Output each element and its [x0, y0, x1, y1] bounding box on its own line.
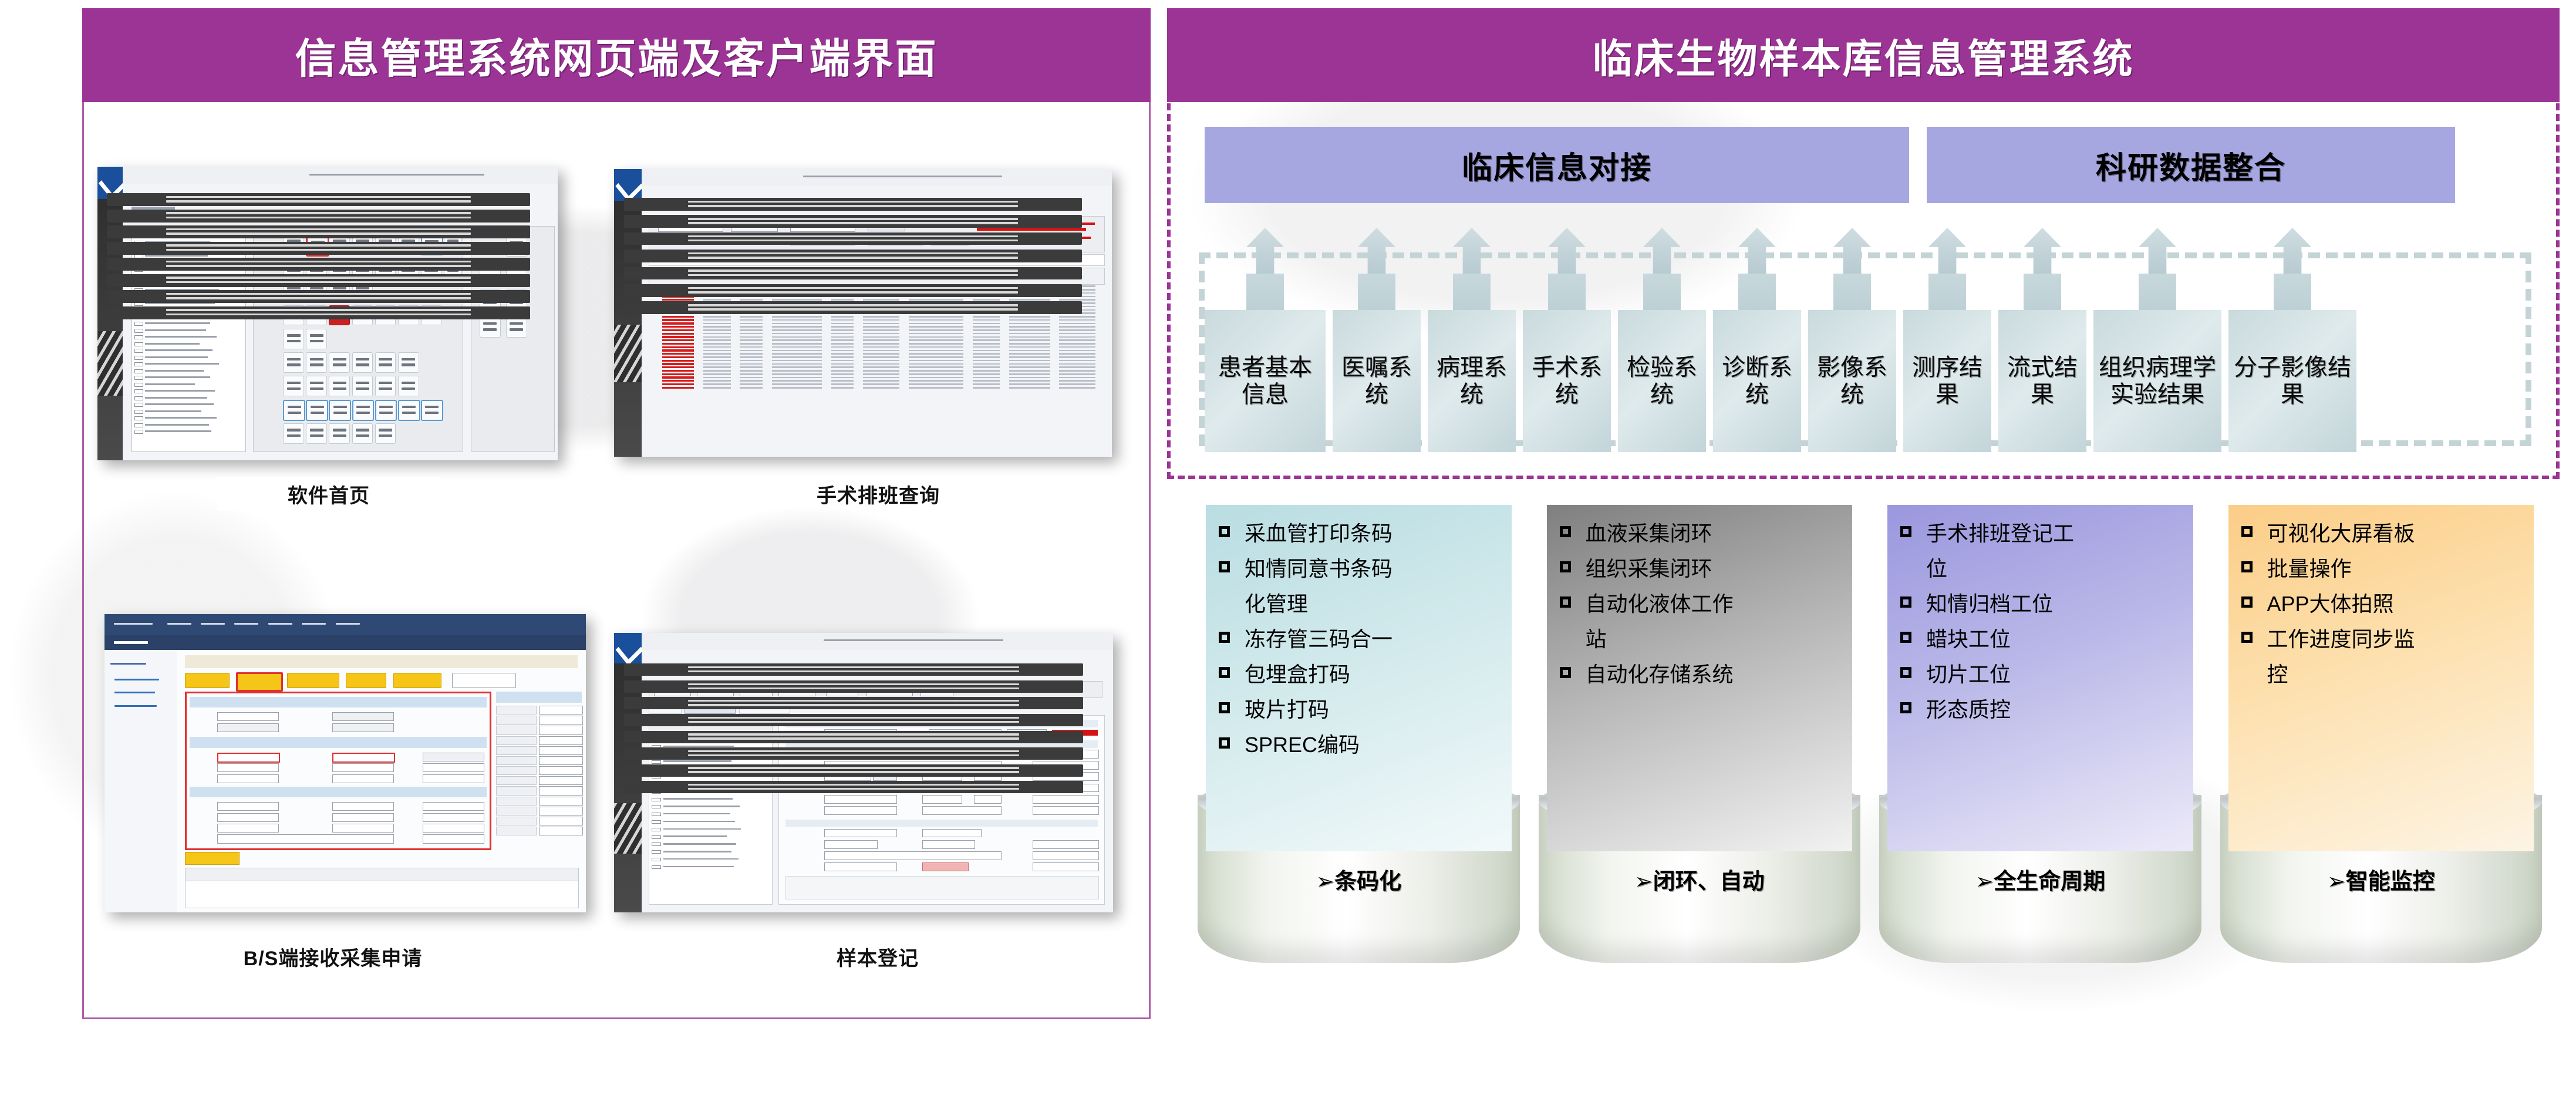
list-item-continuation: 化管理 — [1216, 588, 1501, 620]
research-data-integration-box[interactable]: 科研数据整合 — [1927, 127, 2455, 203]
custom-label — [496, 726, 537, 734]
custom-label — [496, 807, 537, 815]
custom-label — [496, 746, 537, 755]
consent-select[interactable] — [922, 829, 982, 838]
data-source-label: 流式结果 — [1998, 310, 2086, 452]
list-item: 切片工位 — [1898, 659, 2183, 690]
sidebar-stripes — [614, 803, 642, 854]
sidebar-nav-button[interactable] — [107, 290, 530, 303]
table-row[interactable] — [649, 342, 1105, 345]
up-arrow-icon — [1643, 228, 1681, 274]
custom-label — [496, 756, 537, 765]
sidebar-nav-button[interactable] — [107, 242, 530, 255]
clinical-info-docking-box[interactable]: 临床信息对接 — [1205, 127, 1909, 203]
capability-cylinder: 采血管打印条码 知情同意书条码 化管理 冻存管三码合一 包埋盒打码 玻片打码 S… — [1198, 505, 1520, 963]
left-panel-title: 信息管理系统网页端及客户端界面 — [295, 26, 938, 85]
freeze-time-input[interactable] — [1033, 840, 1099, 849]
sample-owner-input[interactable] — [332, 824, 394, 833]
ethnicity-select[interactable] — [824, 795, 897, 804]
data-source-cell[interactable]: 检验系统 — [1618, 228, 1706, 452]
data-source-cell[interactable]: 手术系统 — [1523, 228, 1611, 452]
capability-card-monitoring: 可视化大屏看板 批量操作 APP大体拍照 工作进度同步监 控 — [2228, 505, 2534, 851]
custom-label — [496, 797, 537, 806]
offbody-time-input[interactable] — [922, 840, 976, 849]
sidebar-nav-button[interactable] — [624, 215, 1082, 228]
capability-card-closedloop: 血液采集闭环 组织采集闭环 自动化液体工作 站 自动化存储系统 — [1547, 505, 1853, 851]
caption-bs-collection-request: B/S端接收采集申请 — [189, 938, 477, 975]
screenshot-titlebar — [642, 633, 1113, 651]
arrow-stem — [1548, 274, 1586, 310]
result-table-header — [185, 868, 579, 882]
table-row[interactable] — [649, 373, 1105, 375]
list-item: 可视化大屏看板 — [2239, 518, 2524, 550]
list-item-continuation: 控 — [2239, 659, 2524, 690]
query-today-button[interactable] — [185, 852, 240, 865]
table-row[interactable] — [649, 386, 1105, 389]
table-row[interactable] — [649, 315, 1105, 318]
list-item: 血液采集闭环 — [1557, 518, 1842, 550]
data-source-cell[interactable]: 组织病理学实验结果 — [2093, 228, 2221, 452]
left-panel-header: 信息管理系统网页端及客户端界面 — [82, 8, 1151, 102]
list-item: 蜡块工位 — [1898, 624, 2183, 655]
custom-input[interactable] — [539, 807, 583, 815]
screenshot-bs-collection-request — [104, 614, 586, 912]
sidebar-nav-button[interactable] — [107, 274, 530, 287]
data-sources-row: 患者基本信息 医嘱系统 病理系统 手术系统 检验系统 诊断系统 影像系统 测序结… — [1205, 228, 2526, 452]
disease-type-select[interactable] — [217, 774, 279, 783]
arrow-stem — [1453, 274, 1491, 310]
sample-detail-grid — [785, 876, 1099, 899]
custom-input[interactable] — [539, 716, 583, 724]
sidebar-nav-button[interactable] — [624, 284, 1082, 297]
sidebar-nav-button[interactable] — [624, 250, 1082, 262]
arrow-stem — [2024, 274, 2061, 310]
custom-label — [496, 716, 537, 724]
sidebar-nav-button[interactable] — [624, 714, 1083, 726]
form-panel — [177, 650, 586, 912]
screenshot-titlebar — [123, 167, 558, 185]
custom-input[interactable] — [539, 706, 583, 715]
menu-item[interactable] — [167, 623, 191, 625]
table-row[interactable] — [649, 329, 1105, 331]
custom-input[interactable] — [539, 726, 583, 734]
outpatient-no-input[interactable] — [332, 753, 395, 763]
data-source-cell[interactable]: 医嘱系统 — [1333, 228, 1421, 452]
case-select[interactable] — [332, 774, 394, 783]
arrow-stem — [1833, 274, 1871, 310]
list-item: 自动化存储系统 — [1557, 659, 1842, 690]
data-source-cell[interactable]: 测序结果 — [1903, 228, 1991, 452]
storekeeper-input[interactable] — [1033, 862, 1099, 871]
sidebar-nav-button[interactable] — [624, 781, 1083, 793]
table-row[interactable] — [649, 319, 1105, 321]
custom-input[interactable] — [539, 817, 583, 825]
section-header-sample — [190, 787, 486, 797]
sidebar-nav-button[interactable] — [624, 301, 1082, 314]
custom-input[interactable] — [539, 797, 583, 806]
nav-link[interactable] — [114, 679, 159, 680]
cylinder-label: ➢闭环、自动 — [1539, 863, 1861, 895]
up-arrow-icon — [1548, 228, 1586, 274]
titlebar-text — [309, 174, 484, 176]
sample-status-select[interactable] — [824, 862, 897, 871]
sidebar-nav-button[interactable] — [624, 267, 1082, 280]
custom-fields-header — [496, 692, 582, 702]
capability-cylinder: 手术排班登记工 位 知情归档工位 蜡块工位 切片工位 形态质控 ➢全生命周期 — [1879, 505, 2201, 963]
list-item-continuation: 站 — [1557, 624, 1842, 655]
table-row[interactable] — [649, 369, 1105, 372]
marriage-select[interactable] — [974, 795, 1001, 804]
collect-time-input[interactable] — [217, 813, 279, 822]
list-item: 采血管打印条码 — [1216, 518, 1501, 550]
list-item: SPREC编码 — [1216, 729, 1501, 761]
caption-software-home: 软件首页 — [217, 477, 440, 511]
data-source-label: 影像系统 — [1808, 310, 1896, 452]
menu-item[interactable] — [302, 623, 326, 625]
sidebar-nav-button[interactable] — [624, 731, 1083, 743]
data-source-label: 病理系统 — [1428, 310, 1516, 452]
up-arrow-icon — [2024, 228, 2061, 274]
project-name-select[interactable] — [217, 712, 279, 721]
data-source-cell[interactable]: 流式结果 — [1998, 228, 2086, 452]
table-row[interactable] — [649, 326, 1105, 328]
custom-label — [496, 817, 537, 825]
sidebar-nav-button[interactable] — [624, 747, 1083, 760]
table-row[interactable] — [649, 299, 1105, 301]
capability-card-lifecycle: 手术排班登记工 位 知情归档工位 蜡块工位 切片工位 形态质控 — [1887, 505, 2193, 851]
collect-time-input[interactable] — [824, 840, 878, 849]
list-item: 自动化液体工作 — [1557, 588, 1842, 620]
app-logo-icon — [614, 633, 642, 663]
sidebar-nav-button[interactable] — [624, 198, 1082, 211]
titlebar-text — [803, 176, 1002, 177]
table-row[interactable] — [649, 336, 1105, 338]
custom-label — [496, 736, 537, 745]
menu-item[interactable] — [336, 623, 360, 625]
data-source-label: 检验系统 — [1618, 310, 1706, 452]
capability-cylinder: 可视化大屏看板 批量操作 APP大体拍照 工作进度同步监 控 ➢智能监控 — [2220, 505, 2543, 963]
section-header-project — [190, 697, 486, 707]
cylinder-label: ➢智能监控 — [2220, 863, 2543, 895]
data-source-label: 手术系统 — [1523, 310, 1611, 452]
up-arrow-icon — [1833, 228, 1871, 274]
sender-input[interactable] — [423, 824, 484, 833]
right-panel-header: 临床生物样本库信息管理系统 — [1167, 8, 2560, 102]
list-item: 批量操作 — [2239, 553, 2524, 585]
list-item: 知情同意书条码 — [1216, 553, 1501, 585]
arrow-stem — [2274, 274, 2311, 310]
page-title — [114, 641, 147, 644]
unit-input[interactable] — [217, 723, 279, 732]
highlighted-form-region — [185, 692, 491, 850]
surgery-name-input[interactable] — [824, 851, 1001, 860]
custom-input[interactable] — [539, 827, 583, 835]
save-button[interactable] — [236, 672, 283, 692]
data-source-label: 测序结果 — [1903, 310, 1991, 452]
list-item: 知情归档工位 — [1898, 588, 2183, 620]
patient-no-input[interactable] — [423, 753, 484, 761]
custom-input[interactable] — [539, 776, 583, 785]
nav-group — [110, 663, 147, 665]
data-source-cell[interactable]: 影像系统 — [1808, 228, 1896, 452]
delete-print-button[interactable] — [393, 673, 441, 688]
cylinder-label: ➢全生命周期 — [1879, 863, 2201, 895]
arrow-stem — [1738, 274, 1776, 310]
right-panel-title: 临床生物样本库信息管理系统 — [1592, 26, 2134, 85]
source-dept-select[interactable] — [824, 806, 897, 815]
barcode-input[interactable] — [332, 813, 394, 822]
table-row[interactable] — [649, 363, 1105, 365]
clinical-diagnosis-select[interactable] — [922, 806, 1002, 815]
screenshot-surgery-schedule — [614, 169, 1112, 457]
list-item: APP大体拍照 — [2239, 588, 2524, 620]
left-nav-panel — [104, 650, 177, 912]
table-row[interactable] — [649, 339, 1105, 342]
custom-input[interactable] — [539, 746, 583, 755]
sidebar-nav-button[interactable] — [624, 764, 1083, 777]
data-source-cell[interactable]: 分子影像结果 — [2228, 228, 2356, 452]
name-input[interactable] — [217, 763, 279, 772]
tab-label — [132, 207, 175, 210]
capability-list: 手术排班登记工 位 知情归档工位 蜡块工位 切片工位 形态质控 — [1898, 518, 2183, 726]
sidebar-nav-button[interactable] — [624, 232, 1082, 245]
arrow-stem — [1358, 274, 1395, 310]
collect-date-input[interactable] — [824, 829, 897, 838]
custom-label — [496, 766, 537, 775]
sidebar-stripes — [97, 331, 123, 396]
id-card-input[interactable] — [423, 763, 484, 772]
menu-item[interactable] — [234, 623, 258, 625]
menu-item[interactable] — [268, 623, 292, 625]
custom-input[interactable] — [539, 786, 583, 795]
titlebar-text — [824, 639, 1003, 641]
remark-input[interactable] — [423, 834, 484, 843]
caption-surgery-schedule: 手术排班查询 — [767, 477, 990, 511]
sidebar-nav-button[interactable] — [624, 680, 1083, 693]
data-source-label: 分子影像结果 — [2228, 310, 2356, 452]
list-item: 玻片打码 — [1216, 694, 1501, 726]
project-owner-input[interactable] — [332, 723, 394, 732]
inpatient-no-input[interactable] — [217, 753, 280, 763]
collect-disease-input[interactable] — [1033, 851, 1099, 860]
template-select[interactable] — [452, 673, 516, 688]
table-row[interactable] — [649, 356, 1105, 358]
nav-link[interactable] — [114, 705, 156, 707]
custom-label — [496, 776, 537, 785]
table-row[interactable] — [649, 383, 1105, 385]
arrow-stem — [2139, 274, 2176, 310]
process-method-input[interactable] — [423, 813, 484, 822]
custom-input[interactable] — [539, 766, 583, 775]
sidebar-nav-button[interactable] — [624, 697, 1083, 709]
table-row[interactable] — [649, 353, 1105, 355]
capability-list: 采血管打印条码 知情同意书条码 化管理 冻存管三码合一 包埋盒打码 玻片打码 S… — [1216, 518, 1501, 761]
up-arrow-icon — [2139, 228, 2176, 274]
nav-link[interactable] — [114, 692, 155, 693]
form-heading — [185, 655, 578, 668]
custom-input[interactable] — [539, 756, 583, 765]
result-table-body — [185, 881, 579, 908]
sample-form-panel — [778, 715, 1105, 904]
page-title-bar — [104, 635, 586, 650]
screenshot-titlebar — [642, 169, 1112, 187]
transfer-病-field[interactable] — [922, 862, 969, 871]
screenshot-sample-registration — [614, 633, 1113, 912]
custom-input[interactable] — [539, 736, 583, 745]
arrow-stem — [1928, 274, 1966, 310]
sidebar-nav-button[interactable] — [107, 258, 530, 271]
custom-fields-panel — [496, 692, 582, 847]
hint-text-line — [977, 228, 1086, 231]
list-item: 包埋盒打码 — [1216, 659, 1501, 690]
cylinder-label: ➢条码化 — [1198, 863, 1520, 895]
up-arrow-icon — [1928, 228, 1966, 274]
form-toolbar — [185, 672, 578, 688]
up-arrow-icon — [1358, 228, 1395, 274]
list-item: 组织采集闭环 — [1557, 553, 1842, 585]
arrow-stem — [1643, 274, 1681, 310]
app-menubar — [104, 614, 586, 635]
section-collection — [785, 820, 1098, 827]
data-source-cell[interactable]: 患者基本信息 — [1205, 228, 1326, 452]
bed-no-input[interactable] — [1033, 795, 1099, 804]
data-source-label: 组织病理学实验结果 — [2093, 310, 2221, 452]
table-row[interactable] — [649, 376, 1105, 379]
case-input[interactable] — [1033, 806, 1099, 815]
occupation-select[interactable] — [922, 795, 963, 804]
data-source-cell[interactable]: 诊断系统 — [1713, 228, 1801, 452]
data-source-label: 诊断系统 — [1713, 310, 1801, 452]
project-code-input[interactable] — [332, 712, 394, 721]
sidebar-stripes — [614, 325, 642, 382]
list-item: 工作进度同步监 — [2239, 624, 2524, 655]
arrow-stem — [1246, 274, 1284, 310]
sidebar-nav-button[interactable] — [107, 193, 530, 206]
sidebar-nav-button[interactable] — [107, 306, 530, 319]
section-header-patient — [190, 737, 486, 747]
tissue-type-select[interactable] — [423, 802, 484, 811]
capability-list: 可视化大屏看板 批量操作 APP大体拍照 工作进度同步监 控 — [2239, 518, 2524, 690]
up-arrow-icon — [2274, 228, 2311, 274]
delete-button[interactable] — [346, 673, 386, 688]
consent-select[interactable] — [423, 774, 484, 783]
up-arrow-icon — [1738, 228, 1776, 274]
list-item: 形态质控 — [1898, 694, 2183, 726]
sidebar-nav-button[interactable] — [107, 210, 530, 223]
table-row[interactable] — [649, 380, 1105, 382]
gender-select[interactable] — [332, 763, 394, 772]
menu-item[interactable] — [201, 623, 225, 625]
capability-list: 血液采集闭环 组织采集闭环 自动化液体工作 站 自动化存储系统 — [1557, 518, 1842, 690]
data-source-cell[interactable]: 病理系统 — [1428, 228, 1516, 452]
sample-type-select[interactable] — [332, 802, 394, 811]
table-row[interactable] — [649, 322, 1105, 325]
table-row[interactable] — [649, 366, 1105, 369]
app-brand — [114, 623, 153, 625]
table-row[interactable] — [649, 359, 1105, 362]
table-row[interactable] — [649, 346, 1105, 348]
opener-input[interactable] — [217, 824, 279, 833]
app-logo-icon — [614, 169, 642, 201]
list-item: 手术排班登记工 — [1898, 518, 2183, 550]
custom-label — [496, 786, 537, 795]
list-item: 冻存管三码合一 — [1216, 624, 1501, 655]
up-arrow-icon — [1453, 228, 1491, 274]
custom-label — [496, 706, 537, 715]
caption-sample-registration: 样本登记 — [781, 938, 975, 975]
data-source-label: 患者基本信息 — [1205, 310, 1326, 452]
table-row[interactable] — [649, 332, 1105, 335]
sample-category-select[interactable] — [217, 802, 279, 811]
up-arrow-icon — [1246, 228, 1284, 274]
notes-input[interactable] — [217, 834, 394, 843]
capability-card-barcode: 采血管打印条码 知情同意书条码 化管理 冻存管三码合一 包埋盒打码 玻片打码 S… — [1206, 505, 1512, 851]
table-row[interactable] — [649, 349, 1105, 352]
custom-label — [496, 827, 537, 835]
save-and-new-button[interactable] — [287, 673, 339, 688]
capability-cylinder: 血液采集闭环 组织采集闭环 自动化液体工作 站 自动化存储系统 ➢闭环、自动 — [1539, 505, 1861, 963]
screenshot-software-home — [97, 167, 558, 460]
open-list-panel — [649, 715, 773, 904]
list-item-continuation: 位 — [1898, 553, 2183, 585]
data-source-label: 医嘱系统 — [1333, 310, 1421, 452]
sidebar-nav-button[interactable] — [107, 225, 530, 238]
sidebar-nav-button[interactable] — [624, 663, 1083, 676]
new-button[interactable] — [185, 673, 230, 688]
capability-cylinders: 采血管打印条码 知情同意书条码 化管理 冻存管三码合一 包埋盒打码 玻片打码 S… — [1198, 505, 2542, 963]
integration-targets-row: 临床信息对接 科研数据整合 — [1205, 127, 2526, 203]
